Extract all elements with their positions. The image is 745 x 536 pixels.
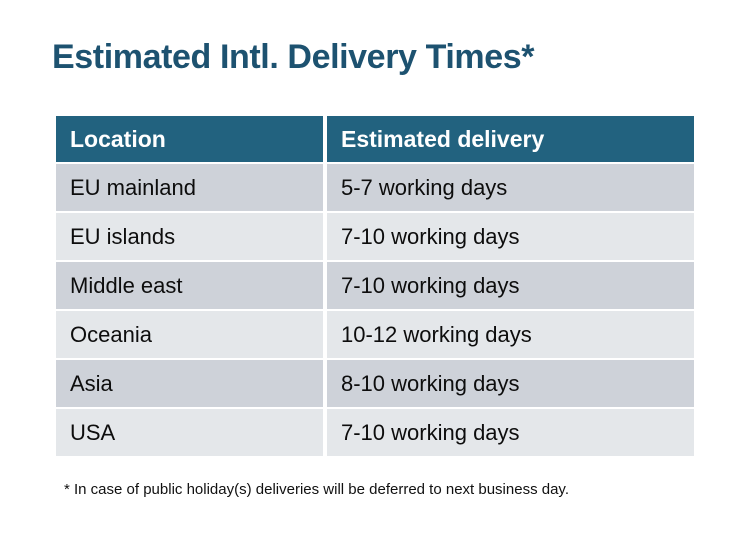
cell-location: EU islands	[56, 213, 323, 260]
page-title: Estimated Intl. Delivery Times*	[52, 35, 534, 79]
cell-location: USA	[56, 409, 323, 456]
table-header: Location Estimated delivery	[56, 116, 694, 162]
estimated-delivery-table: Location Estimated delivery EU mainland …	[52, 114, 698, 458]
table-row: Middle east 7-10 working days	[56, 262, 694, 309]
table-row: Oceania 10-12 working days	[56, 311, 694, 358]
cell-location: EU mainland	[56, 164, 323, 211]
cell-delivery: 10-12 working days	[327, 311, 694, 358]
cell-location: Middle east	[56, 262, 323, 309]
delivery-times-page: Estimated Intl. Delivery Times* Location…	[0, 0, 745, 536]
cell-location: Oceania	[56, 311, 323, 358]
column-header-estimated-delivery: Estimated delivery	[327, 116, 694, 162]
cell-delivery: 7-10 working days	[327, 409, 694, 456]
table-header-row: Location Estimated delivery	[56, 116, 694, 162]
cell-delivery: 7-10 working days	[327, 262, 694, 309]
cell-delivery: 7-10 working days	[327, 213, 694, 260]
cell-delivery: 8-10 working days	[327, 360, 694, 407]
column-header-location: Location	[56, 116, 323, 162]
table-row: USA 7-10 working days	[56, 409, 694, 456]
cell-location: Asia	[56, 360, 323, 407]
cell-delivery: 5-7 working days	[327, 164, 694, 211]
table-row: EU mainland 5-7 working days	[56, 164, 694, 211]
table-body: EU mainland 5-7 working days EU islands …	[56, 164, 694, 456]
table-row: Asia 8-10 working days	[56, 360, 694, 407]
table-row: EU islands 7-10 working days	[56, 213, 694, 260]
footnote: * In case of public holiday(s) deliverie…	[64, 480, 569, 500]
